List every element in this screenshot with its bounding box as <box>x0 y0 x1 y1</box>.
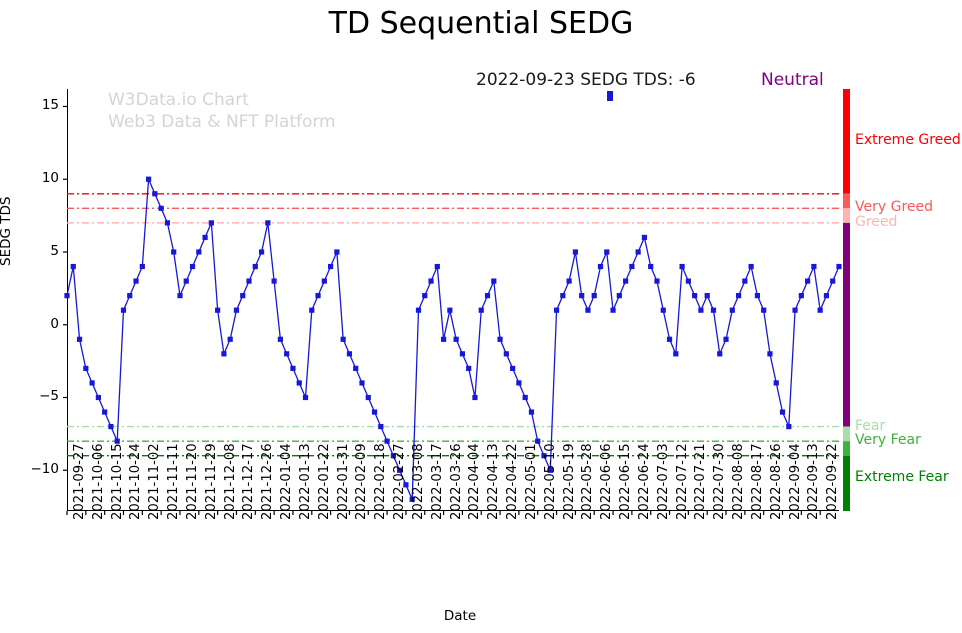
y-axis-title: SEDG TDS <box>0 197 14 266</box>
x-axis-title: Date <box>0 608 920 624</box>
zone-label-extreme-fear: Extreme Fear <box>855 469 949 485</box>
zone-labels: Extreme GreedVery GreedGreedFearVery Fea… <box>0 0 962 633</box>
chart-root: TD Sequential SEDG W3Data.io ChartWeb3 D… <box>0 0 962 633</box>
zone-label-extreme-greed: Extreme Greed <box>855 132 961 148</box>
zone-label-very-fear: Very Fear <box>855 432 921 448</box>
zone-label-greed: Greed <box>855 214 897 230</box>
